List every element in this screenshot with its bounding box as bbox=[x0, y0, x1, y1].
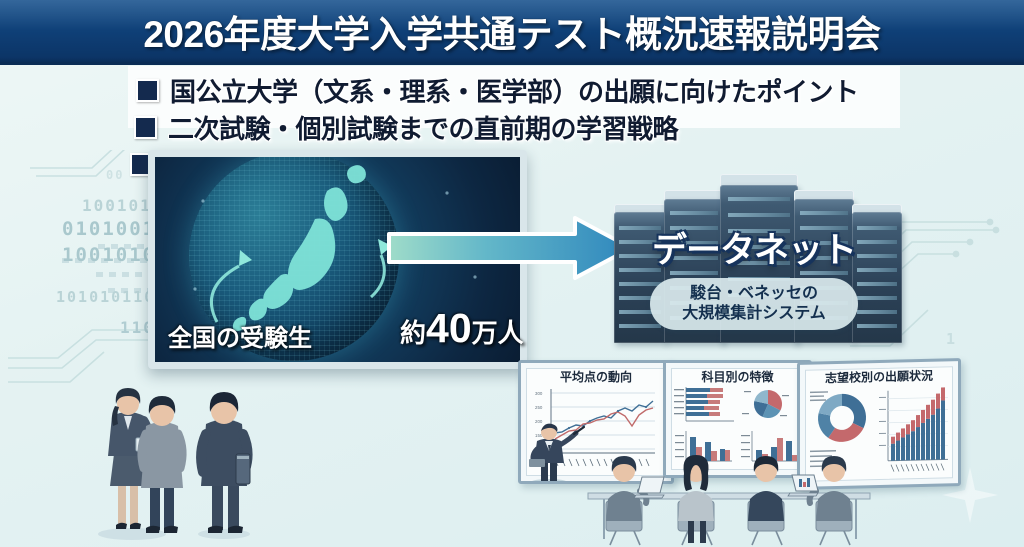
bullet-text-1: 国公立大学（文系・理系・医学部）の出願に向けたポイント bbox=[170, 72, 859, 109]
datanet-title: データネット bbox=[652, 222, 856, 273]
person-man-grey bbox=[141, 396, 183, 533]
label-nationwide-examinees: 全国の受験生 bbox=[168, 318, 312, 353]
standing-people-group bbox=[88, 382, 278, 547]
count-suffix: 万人 bbox=[472, 318, 524, 348]
bullet-item-1: 国公立大学（文系・理系・医学部）の出願に向けたポイント bbox=[136, 72, 926, 109]
datanet-subtitle-line1: 駿台・ベネッセの bbox=[690, 284, 818, 304]
svg-text:300: 300 bbox=[535, 391, 543, 396]
count-number: 40 bbox=[426, 305, 472, 351]
bullet-item-2: 二次試験・個別試験までの直前期の学習戦略 bbox=[134, 109, 926, 146]
count-prefix: 約 bbox=[400, 318, 426, 348]
person-man-dark bbox=[201, 392, 250, 533]
square-bullet-icon bbox=[136, 79, 159, 102]
svg-text:250: 250 bbox=[535, 405, 543, 410]
seated-audience-group bbox=[560, 455, 910, 547]
panel-title-1: 平均点の動向 bbox=[521, 368, 671, 385]
label-examinee-count: 約40万人 bbox=[400, 305, 524, 352]
square-bullet-icon bbox=[134, 116, 157, 139]
audience-person-3 bbox=[748, 456, 784, 521]
datanet-subtitle-pill: 駿台・ベネッセの 大規模集計システム bbox=[650, 278, 858, 330]
binary-decor-0: 00 bbox=[106, 168, 124, 182]
binary-decor-6: 1 bbox=[946, 330, 957, 348]
audience-person-1 bbox=[606, 456, 664, 521]
page-title: 2026年度大学入学共通テスト概況速報説明会 bbox=[0, 0, 1024, 62]
slide-canvas: 00 100101010 01010010 10010101 101010110… bbox=[0, 0, 1024, 547]
server-rack-5 bbox=[852, 212, 902, 343]
bullet-text-2: 二次試験・個別試験までの直前期の学習戦略 bbox=[168, 109, 678, 146]
audience-person-4 bbox=[788, 456, 852, 521]
flow-arrow-icon bbox=[385, 212, 635, 284]
panel-title-2: 科目別の特徴 bbox=[666, 368, 809, 385]
datanet-subtitle-line2: 大規模集計システム bbox=[682, 304, 826, 324]
title-banner: 2026年度大学入学共通テスト概況速報説明会 bbox=[0, 0, 1024, 65]
